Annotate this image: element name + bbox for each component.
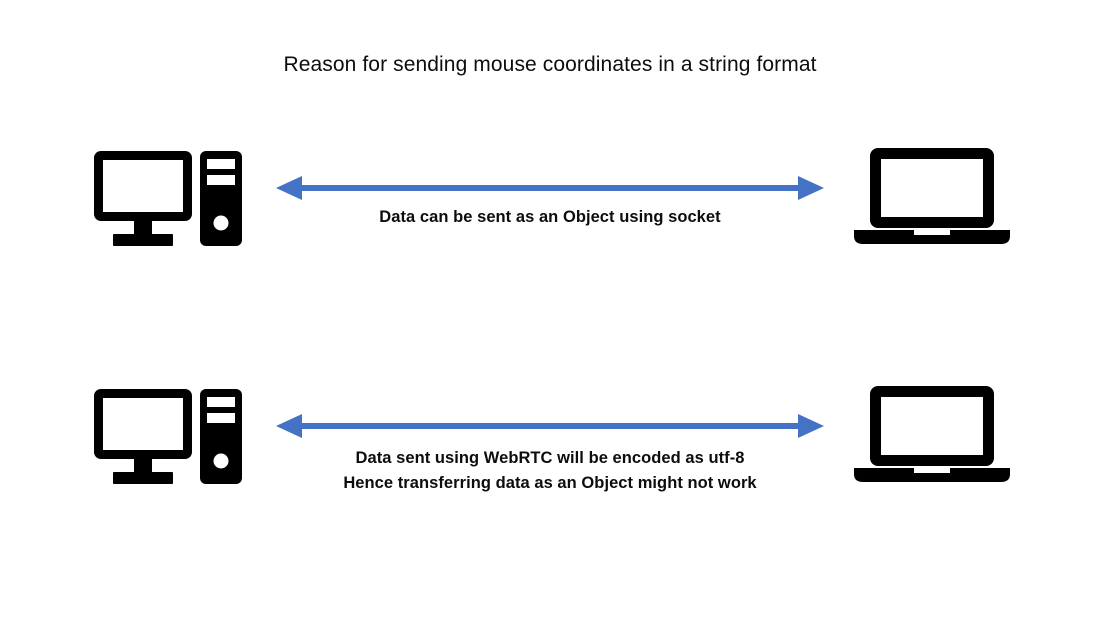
caption-line: Data can be sent as an Object using sock… [250,205,850,230]
desktop-computer-icon [90,138,245,250]
diagram-canvas: Reason for sending mouse coordinates in … [0,0,1100,619]
caption-row-2: Data sent using WebRTC will be encoded a… [250,446,850,496]
laptop-icon [852,376,1012,488]
laptop-icon [852,138,1012,250]
caption-line: Hence transferring data as an Object mig… [250,471,850,496]
connector-arrow-row-1 [276,172,824,204]
caption-line: Data sent using WebRTC will be encoded a… [250,446,850,471]
desktop-computer-icon [90,376,245,488]
page-title: Reason for sending mouse coordinates in … [0,53,1100,77]
caption-row-1: Data can be sent as an Object using sock… [250,205,850,230]
connector-arrow-row-2 [276,410,824,442]
